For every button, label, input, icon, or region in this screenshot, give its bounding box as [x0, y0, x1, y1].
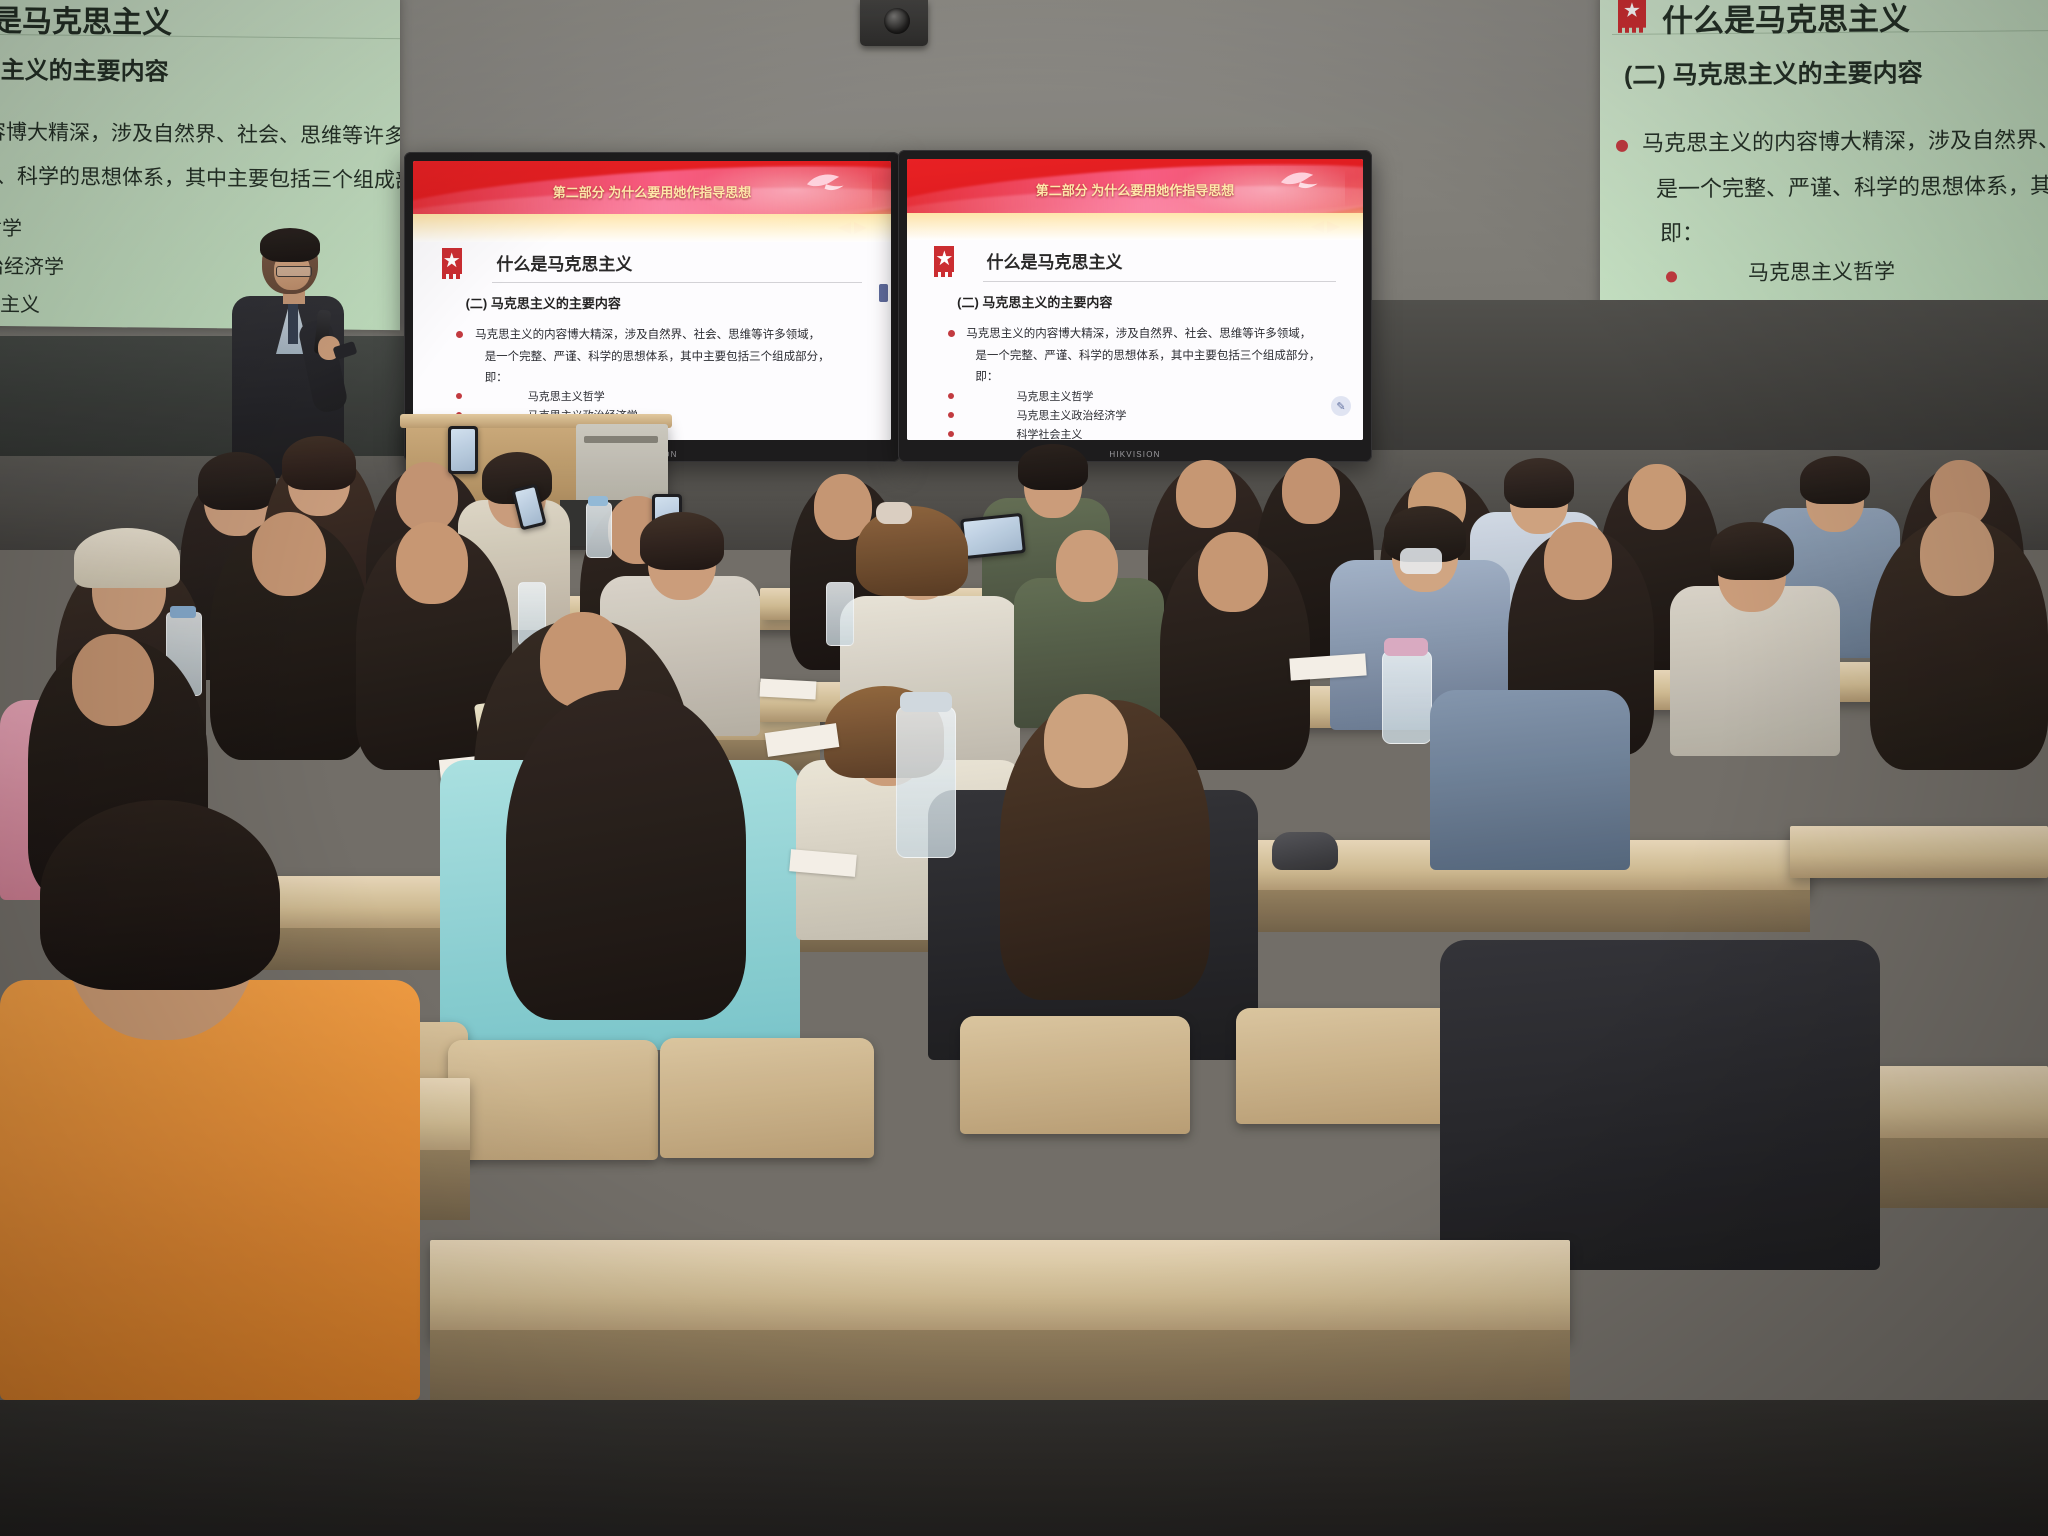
bullet-dot — [948, 393, 954, 399]
proj-left-body-2: 是一个完整、严谨、科学的思想体系，其中主要包括三个组成部分， — [0, 158, 400, 195]
slide-subheading: (二) 马克思主义的主要内容 — [466, 293, 621, 312]
slide-sub-item-2: 马克思主义政治经济学 — [1016, 407, 1126, 423]
chair-foreground-c — [660, 1038, 874, 1158]
proj-right-body-3: 即： — [1660, 215, 1704, 247]
notebook-page — [760, 679, 817, 700]
slide-body-line-2: 是一个完整、严谨、科学的思想体系，其中主要包括三个组成部分， — [975, 347, 1320, 363]
slide-banner-title: 第二部分 为什么要用她作指导思想 — [907, 180, 1363, 199]
proj-left-subheading: (二) 马克思主义的主要内容 — [0, 49, 169, 87]
proj-right-subheading: (二) 马克思主义的主要内容 — [1624, 53, 1923, 92]
slide-subheading: (二) 马克思主义的主要内容 — [957, 292, 1112, 311]
bullet-dot — [456, 393, 462, 399]
bullet-dot — [456, 331, 463, 338]
bullet-dot — [948, 431, 954, 437]
proj-left-sub-2: 马克思主义政治经济学 — [0, 249, 64, 280]
desk-row3-d — [1790, 826, 2048, 878]
ceiling-camera-icon — [884, 8, 910, 34]
scroll-indicator[interactable] — [879, 284, 888, 302]
bullet-dot — [1616, 140, 1628, 152]
floor — [0, 1400, 2048, 1536]
chair-foreground-e — [1236, 1008, 1460, 1124]
slide-sub-item-1: 马克思主义哲学 — [1016, 388, 1093, 404]
red-star-badge-icon — [1618, 0, 1646, 28]
desk-row5 — [430, 1240, 1570, 1340]
projection-right: 什么是马克思主义 (二) 马克思主义的主要内容 马克思主义的内容博大精深，涉及自… — [1600, 0, 2048, 310]
hair-clip — [876, 502, 912, 524]
slide-body-right: 什么是马克思主义 (二) 马克思主义的主要内容 马克思主义的内容博大精深，涉及自… — [907, 240, 1363, 440]
slide-body-line-3: 即： — [485, 369, 508, 385]
lecturer-glasses — [276, 266, 312, 277]
bottle-cap — [900, 692, 952, 712]
face-mask — [1400, 548, 1442, 574]
slide-body-left: 什么是马克思主义 (二) 马克思主义的主要内容 马克思主义的内容博大精深，涉及自… — [413, 242, 891, 440]
slide-heading: 什么是马克思主义 — [987, 248, 1123, 273]
bullet-dot — [948, 330, 955, 337]
bottle-cap — [170, 606, 196, 618]
slide-banner-title: 第二部分 为什么要用她作指导思想 — [413, 182, 891, 201]
proj-right-sub-1: 马克思主义哲学 — [1748, 255, 1895, 286]
proj-left-sub-1: 马克思主义哲学 — [0, 211, 22, 241]
pc-drive-slot — [584, 436, 658, 443]
annotate-pen-icon[interactable]: ✎ — [1331, 396, 1351, 416]
classroom-photo: 什么是马克思主义 (二) 马克思主义的主要内容 马克思主义的内容博大精深，涉及自… — [0, 0, 2048, 1536]
water-bottle — [1382, 650, 1432, 744]
monitor-right-screen[interactable]: 第二部分 为什么要用她作指导思想 什么是马克思主义 (二) 马克思主义的主要内容… — [907, 159, 1363, 440]
monitor-left-screen[interactable]: 第二部分 为什么要用她作指导思想 什么是马克思主义 (二) 马克思主义的主要内容… — [413, 161, 891, 440]
chair-foreground-d — [960, 1016, 1190, 1134]
slide-body-line-3: 即： — [975, 368, 998, 384]
lecturer-hair — [260, 228, 320, 262]
monitor-right[interactable]: 第二部分 为什么要用她作指导思想 什么是马克思主义 (二) 马克思主义的主要内容… — [898, 150, 1372, 462]
lecturer-tie — [288, 302, 298, 344]
bullet-dot — [948, 412, 954, 418]
slide-sub-item-3: 科学社会主义 — [1016, 426, 1082, 440]
slide-heading: 什么是马克思主义 — [496, 250, 632, 275]
red-star-badge-icon — [442, 248, 462, 274]
projection-left: 什么是马克思主义 (二) 马克思主义的主要内容 马克思主义的内容博大精深，涉及自… — [0, 0, 400, 330]
water-bottle — [586, 502, 612, 558]
computer-mouse — [1272, 832, 1338, 870]
proj-left-heading: 什么是马克思主义 — [0, 0, 172, 42]
water-bottle — [826, 582, 854, 646]
chair-foreground-b — [448, 1040, 658, 1160]
slide-body-line-1: 马克思主义的内容博大精深，涉及自然界、社会、思维等许多领域， — [475, 326, 820, 342]
slide-banner: 第二部分 为什么要用她作指导思想 — [413, 161, 891, 242]
proj-left-sub-3: 科学社会主义 — [0, 287, 40, 317]
student-phone — [448, 426, 478, 474]
bullet-dot — [1666, 271, 1677, 282]
blackboard-right — [1372, 300, 2048, 450]
student-tablet — [960, 513, 1026, 559]
bottle-cap — [588, 496, 608, 506]
water-bottle — [896, 706, 956, 858]
slide-sub-item-1: 马克思主义哲学 — [528, 388, 605, 404]
slide-body-line-1: 马克思主义的内容博大精深，涉及自然界、社会、思维等许多领域， — [966, 325, 1311, 341]
slide-body-line-2: 是一个完整、严谨、科学的思想体系，其中主要包括三个组成部分， — [485, 348, 830, 364]
red-star-badge-icon — [934, 246, 954, 272]
proj-right-body-1: 马克思主义的内容博大精深，涉及自然界、社会、思维等许多领域， — [1642, 120, 2048, 158]
proj-right-heading: 什么是马克思主义 — [1662, 0, 1910, 41]
proj-right-body-2: 是一个完整、严谨、科学的思想体系，其中主要包括三个组成部分， — [1656, 166, 2048, 204]
monitor-right-brand: HIKVISION — [898, 450, 1372, 459]
proj-left-body-1: 马克思主义的内容博大精深，涉及自然界、社会、思维等许多领域， — [0, 114, 400, 151]
bottle-cap — [1384, 638, 1428, 656]
slide-banner: 第二部分 为什么要用她作指导思想 — [907, 159, 1363, 240]
